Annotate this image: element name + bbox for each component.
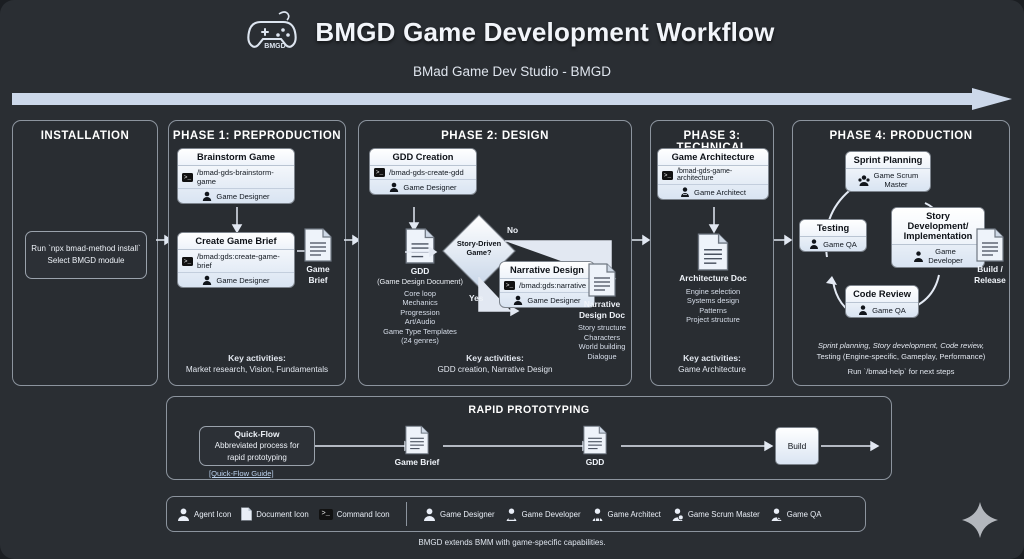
card-title: Create Game Brief xyxy=(178,233,294,250)
legend-item-command: >_ Command Icon xyxy=(319,509,390,520)
doc-caption-line2: Brief xyxy=(308,275,327,285)
legend-role-game-scrum-master: Game Scrum Master xyxy=(671,508,760,521)
arrow-build-end xyxy=(821,441,879,451)
page-title: BMGD Game Development Workflow xyxy=(315,17,774,48)
card-gdd-creation[interactable]: GDD Creation >_ /bmad-gds-create-gdd Gam… xyxy=(369,148,477,195)
legend-label: Agent Icon xyxy=(194,510,231,519)
card-agent-line1: Game xyxy=(935,247,956,256)
page-subtitle: BMad Game Dev Studio - BMGD xyxy=(0,64,1024,79)
quick-flow-title: Quick-Flow xyxy=(234,428,279,440)
key-text: Market research, Vision, Fundamentals xyxy=(186,365,328,374)
card-agent-line1: Game Scrum xyxy=(874,171,919,180)
legend-item-agent: Agent Icon xyxy=(177,508,231,521)
game-scrum-master-icon xyxy=(858,175,870,186)
rapid-step-label: GDD xyxy=(571,457,619,468)
doc-caption2: (Game Design Document) xyxy=(371,277,469,286)
doc-build-release: Build / Release xyxy=(962,228,1018,285)
document-icon xyxy=(571,425,619,455)
doc-architecture: Architecture Doc Engine selection System… xyxy=(659,233,767,325)
install-step-line1: Run `npx bmad-method install` xyxy=(31,243,140,255)
legend-label: Game Developer xyxy=(522,510,581,519)
decision-line1: Story-Driven xyxy=(457,239,501,248)
card-agent-row: Game QA xyxy=(800,237,866,251)
legend-role-game-designer: Game Designer xyxy=(423,508,495,521)
card-title: Brainstorm Game xyxy=(178,149,294,166)
install-step-box[interactable]: Run `npx bmad-method install` Select BMG… xyxy=(25,231,147,279)
arrow-brainstorm-to-brief xyxy=(232,207,242,233)
card-agent-row: Game Designer xyxy=(178,272,294,287)
phase4-note-line3: Run `/bmad-help` for next steps xyxy=(848,366,955,378)
doc-caption-line2: Release xyxy=(974,275,1006,285)
legend-label: Command Icon xyxy=(337,510,390,519)
phase4-note-line1: Sprint planning, Story development, Code… xyxy=(818,341,984,350)
card-command-row[interactable]: >_ /bmad-gds-create-gdd xyxy=(370,166,476,179)
command-icon: >_ xyxy=(374,168,385,177)
installation-title: INSTALLATION xyxy=(13,130,157,142)
key-text: Game Architecture xyxy=(678,365,746,374)
card-title: Game Architecture xyxy=(658,149,768,166)
agent-icon xyxy=(202,275,212,285)
legend-role-game-developer: Game Developer xyxy=(505,508,581,521)
phase2-section: PHASE 2: DESIGN GDD Creation >_ /bmad-gd… xyxy=(358,120,632,386)
key-label: Key activities: xyxy=(363,353,627,364)
card-code-review[interactable]: Code Review Game QA xyxy=(845,285,919,318)
legend-role-game-architect: Game Architect xyxy=(591,508,661,521)
agent-icon xyxy=(389,182,399,192)
legend-item-document: Document Icon xyxy=(241,507,308,521)
card-command-row[interactable]: >_ /bmad-gds-game-architecture xyxy=(658,166,768,184)
doc-caption: Architecture Doc xyxy=(659,273,767,284)
agent-icon xyxy=(202,191,212,201)
arrow-gdd-to-decision xyxy=(405,247,437,257)
phase3-section: PHASE 3: TECHNICAL Game Architecture >_ … xyxy=(650,120,774,386)
game-qa-icon xyxy=(858,305,868,315)
document-icon xyxy=(571,263,633,297)
key-text: GDD creation, Narrative Design xyxy=(437,365,552,374)
command-icon: >_ xyxy=(319,509,333,520)
card-command: /bmad-gds-create-gdd xyxy=(389,168,464,177)
gamepad-icon: BMGD xyxy=(249,8,301,56)
legend-label: Game Designer xyxy=(440,510,495,519)
card-title: Sprint Planning xyxy=(846,152,930,169)
card-title: Code Review xyxy=(846,286,918,303)
workflow-diagram: BMGD BMGD Game Development Workflow BMad… xyxy=(0,0,1024,559)
command-icon: >_ xyxy=(182,257,193,266)
doc-caption: Narrative xyxy=(584,299,620,309)
card-title: GDD Creation xyxy=(370,149,476,166)
card-agent-line2: Developer xyxy=(928,256,963,265)
legend-role-game-qa: Game QA xyxy=(770,508,822,521)
card-create-game-brief[interactable]: Create Game Brief >_ /bmad:gds:create-ga… xyxy=(177,232,295,288)
card-agent-row: Game Designer xyxy=(178,188,294,203)
install-step-line2: Select BMGD module xyxy=(48,255,125,267)
doc-caption-line1: Game xyxy=(306,264,329,274)
card-agent-line2: Master xyxy=(884,180,907,189)
phase4-notes: Sprint planning, Story development, Code… xyxy=(797,340,1005,378)
rapid-doc-gdd: GDD xyxy=(571,425,619,468)
phase1-title: PHASE 1: PREPRODUCTION xyxy=(169,130,345,142)
edge-label-yes: Yes xyxy=(469,293,483,303)
legend-label: Game Scrum Master xyxy=(688,510,760,519)
document-icon xyxy=(241,507,252,521)
game-designer-icon xyxy=(423,508,436,521)
legend: Agent Icon Document Icon >_ Command Icon… xyxy=(166,496,866,532)
card-agent: Game Designer xyxy=(216,276,269,285)
doc-narrative-design: Narrative Design Doc Story structure Cha… xyxy=(571,263,633,361)
document-icon xyxy=(962,228,1018,262)
game-architect-icon xyxy=(591,508,604,521)
logo-text: BMGD xyxy=(265,43,286,50)
game-scrum-master-icon xyxy=(671,508,684,521)
arrow-gdd-to-build xyxy=(621,441,773,451)
doc-details: Core loop Mechanics Progression Art/Audi… xyxy=(371,289,469,347)
edge-label-no: No xyxy=(507,225,518,235)
rapid-prototyping-section: RAPID PROTOTYPING Quick-Flow Abbreviated… xyxy=(166,396,892,480)
quick-flow-guide-link[interactable]: [Quick-Flow Guide] xyxy=(209,469,274,478)
rapid-doc-game-brief: Game Brief xyxy=(393,425,441,468)
game-qa-icon xyxy=(809,239,819,249)
card-agent-row: Game Designer xyxy=(370,179,476,194)
key-label: Key activities: xyxy=(655,353,769,364)
card-title-line1: Story xyxy=(926,211,950,221)
card-command: /bmad:gds:create-game-brief xyxy=(197,252,290,270)
card-command: /bmad-gds-game-architecture xyxy=(677,168,764,182)
doc-details: Engine selection Systems design Patterns… xyxy=(659,287,767,325)
game-developer-icon xyxy=(505,508,518,521)
quick-flow-box[interactable]: Quick-Flow Abbreviated process for rapid… xyxy=(199,426,315,466)
card-sprint-planning[interactable]: Sprint Planning Game Scrum Master xyxy=(845,151,931,192)
arrow-phase2-to-phase3 xyxy=(632,235,650,245)
arrow-arch-to-doc xyxy=(709,207,719,233)
legend-label: Document Icon xyxy=(256,510,308,519)
phase2-title: PHASE 2: DESIGN xyxy=(359,130,631,142)
card-command-row[interactable]: >_ /bmad-gds-brainstorm-game xyxy=(178,166,294,188)
card-command-row[interactable]: >_ /bmad:gds:create-game-brief xyxy=(178,250,294,272)
card-agent: Game QA xyxy=(872,306,906,315)
command-icon: >_ xyxy=(504,281,515,290)
card-agent-row: Game Architect xyxy=(658,184,768,199)
agent-icon xyxy=(177,508,190,521)
card-agent: Game QA xyxy=(823,240,857,249)
arrow-brief-to-gdd xyxy=(443,441,591,451)
key-label: Key activities: xyxy=(173,353,341,364)
card-command: /bmad-gds-brainstorm-game xyxy=(197,168,290,186)
doc-game-brief: Game Brief xyxy=(296,228,340,285)
phase2-key-activities: Key activities: GDD creation, Narrative … xyxy=(363,353,627,375)
doc-caption: GDD xyxy=(411,266,430,276)
card-game-architecture[interactable]: Game Architecture >_ /bmad-gds-game-arch… xyxy=(657,148,769,200)
rapid-title: RAPID PROTOTYPING xyxy=(167,404,891,416)
game-qa-icon xyxy=(770,508,783,521)
quick-flow-line1: Abbreviated process for xyxy=(215,440,300,452)
card-agent: Game Designer xyxy=(403,183,456,192)
rapid-step-label: Game Brief xyxy=(393,457,441,468)
phase4-title: PHASE 4: PRODUCTION xyxy=(793,130,1009,142)
doc-caption2: Design Doc xyxy=(579,310,625,320)
command-icon: >_ xyxy=(662,171,673,180)
header: BMGD BMGD Game Development Workflow BMad… xyxy=(0,8,1024,79)
phase4-note-line2: Testing (Engine-specific, Gameplay, Perf… xyxy=(817,352,986,361)
card-agent-row: Game QA xyxy=(846,303,918,317)
quick-flow-line2: rapid prototyping xyxy=(227,452,287,464)
phase1-key-activities: Key activities: Market research, Vision,… xyxy=(173,353,341,375)
card-agent: Game Designer xyxy=(216,192,269,201)
card-testing[interactable]: Testing Game QA xyxy=(799,219,867,252)
card-title: Testing xyxy=(800,220,866,237)
legend-label: Game Architect xyxy=(608,510,661,519)
sparkle-icon xyxy=(960,500,1000,540)
card-agent: Game Architect xyxy=(694,188,746,197)
card-agent-row: Game Scrum Master xyxy=(846,169,930,191)
legend-label: Game QA xyxy=(787,510,822,519)
card-brainstorm-game[interactable]: Brainstorm Game >_ /bmad-gds-brainstorm-… xyxy=(177,148,295,204)
card-title-line2: Development/ xyxy=(908,221,969,231)
arrow-phase3-to-phase4 xyxy=(774,235,792,245)
phase3-key-activities: Key activities: Game Architecture xyxy=(655,353,769,375)
decision-line2: Game? xyxy=(466,248,491,257)
rapid-build-box[interactable]: Build xyxy=(775,427,819,465)
installation-section: INSTALLATION Run `npx bmad-method instal… xyxy=(12,120,158,386)
timeline-arrow xyxy=(12,88,1012,112)
legend-divider xyxy=(406,502,407,526)
footnote: BMGD extends BMM with game-specific capa… xyxy=(0,538,1024,547)
agent-icon xyxy=(513,295,523,305)
document-icon xyxy=(393,425,441,455)
game-developer-icon xyxy=(913,251,924,262)
document-icon xyxy=(659,233,767,271)
command-icon: >_ xyxy=(182,173,193,182)
doc-caption-line1: Build / xyxy=(977,264,1003,274)
game-architect-icon xyxy=(680,187,690,197)
rapid-build-label: Build xyxy=(788,441,807,451)
document-icon xyxy=(296,228,340,262)
